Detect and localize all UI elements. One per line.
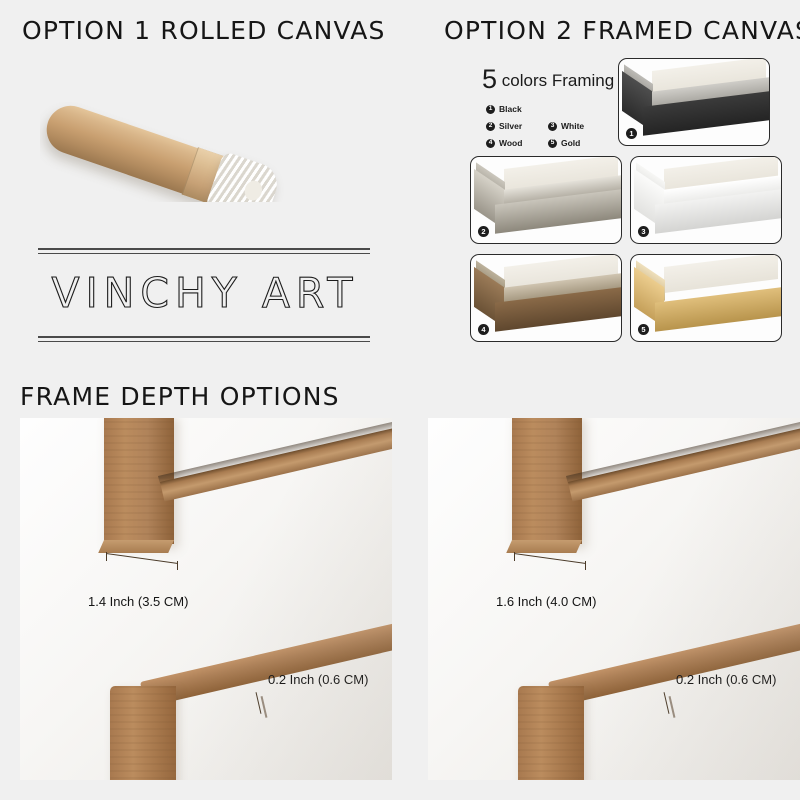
depth-dimension-tick-right	[585, 561, 586, 570]
brand-name: VINCHY ART	[40, 270, 370, 316]
swatch-badge-3: 3	[638, 226, 649, 237]
option2-heading: OPTION 2 FRAMED CANVAS	[444, 16, 800, 45]
frame-swatch-wood[interactable]: 4	[470, 254, 622, 342]
rolled-canvas-image	[40, 62, 310, 202]
legend-label-1: Black	[499, 104, 522, 114]
legend-row: 1 Black	[486, 104, 622, 114]
frame-swatch-white[interactable]: 3	[630, 156, 782, 244]
legend-label-3: White	[561, 121, 584, 131]
frame-corner-illustration	[619, 59, 769, 145]
swatch-badge-5: 5	[638, 324, 649, 335]
frame-post-lower	[518, 686, 584, 780]
frame-post-lower	[110, 686, 176, 780]
legend-row: 4 Wood 5 Gold	[486, 138, 622, 148]
depth-dimension-tick-left	[106, 552, 107, 561]
frame-swatch-gold[interactable]: 5	[630, 254, 782, 342]
legend-badge-4: 4	[486, 139, 495, 148]
depth-dimension-label: 1.6 Inch (4.0 CM)	[496, 594, 596, 609]
legend-badge-1: 1	[486, 105, 495, 114]
logo-rule-top-thick	[38, 248, 370, 250]
frame-seam	[261, 696, 267, 718]
legend-badge-5: 5	[548, 139, 557, 148]
frame-post-end	[506, 540, 582, 553]
swatch-badge-2: 2	[478, 226, 489, 237]
depth-dimension-label: 1.4 Inch (3.5 CM)	[88, 594, 188, 609]
frame-swatch-silver[interactable]: 2	[470, 156, 622, 244]
legend-label-4: Wood	[499, 138, 522, 148]
depth-dimension-line	[106, 553, 178, 564]
legend-item-black: 1 Black	[486, 104, 548, 114]
legend-row: 2 Silver 3 White	[486, 121, 622, 131]
brand-logo: VINCHY ART	[38, 248, 370, 356]
frame-corner-illustration	[471, 255, 621, 341]
infographic-page: OPTION 1 ROLLED CANVAS VINCHY ART OPTION…	[0, 0, 800, 800]
legend-label-5: Gold	[561, 138, 580, 148]
frame-depth-heading: FRAME DEPTH OPTIONS	[20, 382, 340, 411]
frame-corner-illustration	[631, 255, 781, 341]
depth-dimension-tick-right	[177, 561, 178, 570]
option1-heading: OPTION 1 ROLLED CANVAS	[22, 16, 386, 45]
swatch-badge-1: 1	[626, 128, 637, 139]
legend-item-white: 3 White	[548, 121, 610, 131]
logo-rule-top-thin	[38, 253, 370, 254]
framing-title: 5 colors Framing	[482, 64, 614, 95]
legend-item-silver: 2 Silver	[486, 121, 548, 131]
frame-rail-lower	[140, 615, 392, 708]
legend-label-2: Silver	[499, 121, 522, 131]
frame-depth-photo-deep: 1.6 Inch (4.0 CM) 0.2 Inch (0.6 CM)	[428, 418, 800, 780]
frame-post-end	[98, 540, 174, 553]
framing-legend: 1 Black 2 Silver 3 White 4 Wood	[486, 104, 622, 155]
logo-rule-bottom-thick	[38, 336, 370, 338]
framing-count: 5	[482, 64, 497, 94]
legend-badge-2: 2	[486, 122, 495, 131]
frame-corner-illustration	[471, 157, 621, 243]
frame-depth-photo-standard: 1.4 Inch (3.5 CM) 0.2 Inch (0.6 CM)	[20, 418, 392, 780]
legend-badge-3: 3	[548, 122, 557, 131]
depth-dimension-line	[514, 553, 586, 564]
thickness-dimension-label: 0.2 Inch (0.6 CM)	[676, 672, 776, 687]
logo-rule-bottom-thin	[38, 341, 370, 342]
mailing-tube	[40, 92, 282, 202]
frame-swatch-black[interactable]: 1	[618, 58, 770, 146]
depth-dimension-tick-left	[514, 552, 515, 561]
frame-rail-lower	[548, 615, 800, 708]
thickness-dimension-label: 0.2 Inch (0.6 CM)	[268, 672, 368, 687]
frame-corner-illustration	[631, 157, 781, 243]
legend-item-wood: 4 Wood	[486, 138, 548, 148]
swatch-badge-4: 4	[478, 324, 489, 335]
framing-colors-panel: 5 colors Framing 1 Black 2 Silver 3 Whit…	[470, 56, 786, 354]
legend-item-gold: 5 Gold	[548, 138, 610, 148]
framing-title-text: colors Framing	[502, 71, 614, 90]
frame-seam	[669, 696, 675, 718]
